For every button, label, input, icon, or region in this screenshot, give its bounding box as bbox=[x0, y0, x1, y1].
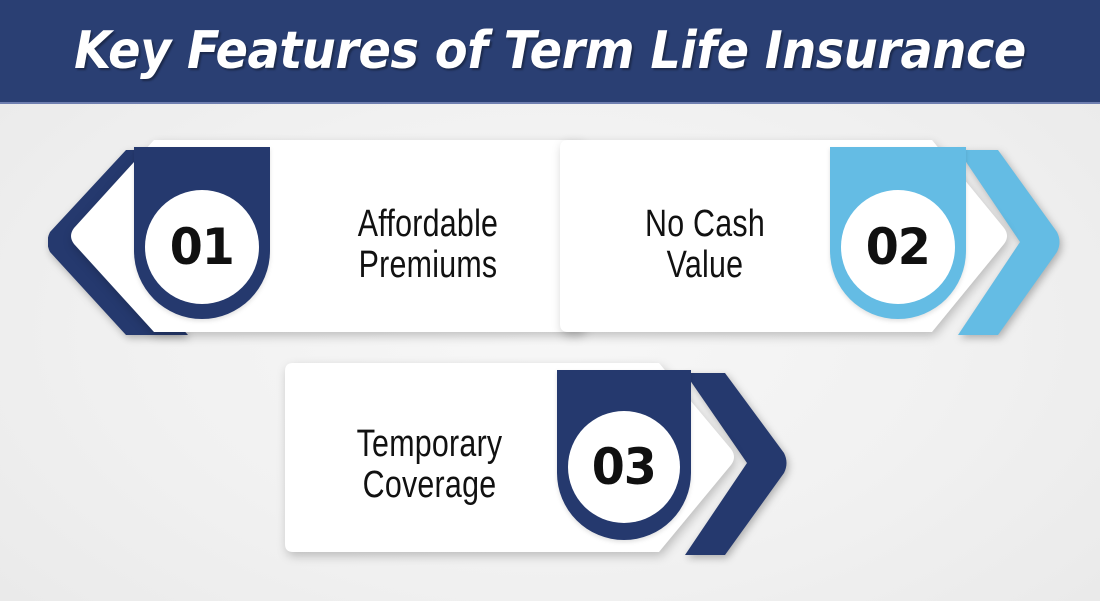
number-label: 03 bbox=[592, 442, 656, 492]
header-banner: Key Features of Term Life Insurance bbox=[0, 0, 1100, 104]
feature-label: No Cash Value bbox=[601, 185, 809, 305]
number-badge: 03 bbox=[568, 411, 680, 523]
feature-card-2[interactable]: 02 No Cash Value bbox=[560, 140, 1060, 345]
number-label: 01 bbox=[170, 222, 234, 272]
page-title: Key Features of Term Life Insurance bbox=[44, 0, 1056, 102]
feature-card-3[interactable]: 03 Temporary Coverage bbox=[285, 363, 795, 563]
feature-label: Affordable Premiums bbox=[324, 185, 532, 305]
feature-card-1[interactable]: 01 Affordable Premiums bbox=[48, 140, 548, 345]
number-label: 02 bbox=[866, 222, 930, 272]
infographic-canvas: Key Features of Term Life Insurance 01 A… bbox=[0, 0, 1100, 601]
number-badge: 02 bbox=[841, 190, 955, 304]
feature-label: Temporary Coverage bbox=[324, 405, 536, 525]
number-badge: 01 bbox=[145, 190, 259, 304]
